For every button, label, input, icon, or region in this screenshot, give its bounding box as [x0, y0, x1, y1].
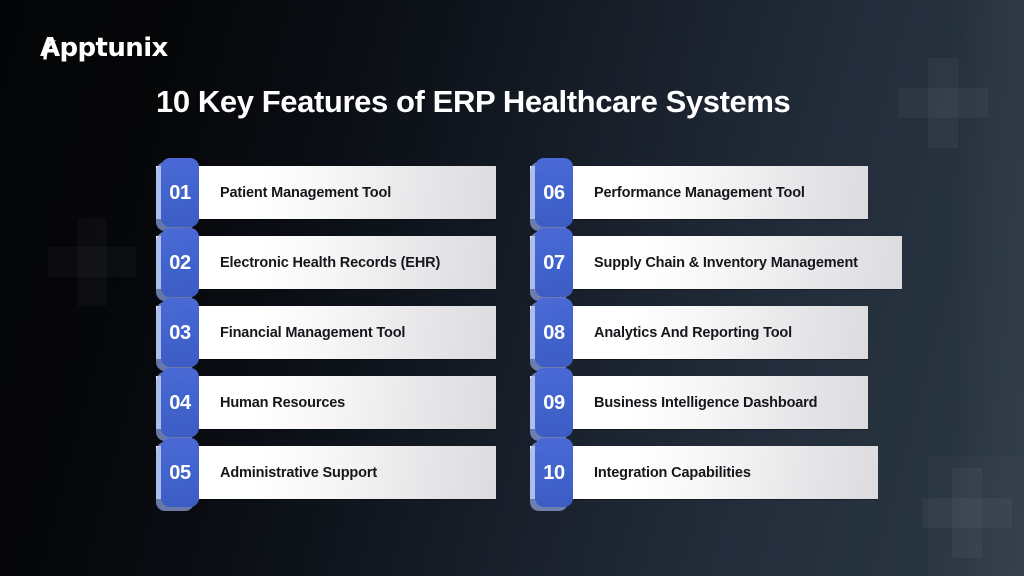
medical-cross-left-icon — [48, 218, 136, 306]
feature-number-badge: 09 — [535, 368, 573, 437]
feature-number: 05 — [169, 463, 190, 483]
feature-label: Financial Management Tool — [220, 306, 405, 359]
feature-label: Analytics And Reporting Tool — [594, 306, 792, 359]
infographic-slide: Apptunix 10 Key Features of ERP Healthca… — [0, 0, 1024, 576]
feature-label: Human Resources — [220, 376, 345, 429]
feature-number-badge: 01 — [161, 158, 199, 227]
feature-number-badge: 10 — [535, 438, 573, 507]
feature-label: Business Intelligence Dashboard — [594, 376, 817, 429]
feature-number-badge: 04 — [161, 368, 199, 437]
feature-number-badge: 06 — [535, 158, 573, 227]
bottom-right-block — [928, 456, 1024, 576]
feature-number: 01 — [169, 183, 190, 203]
feature-label: Supply Chain & Inventory Management — [594, 236, 858, 289]
feature-number-badge: 07 — [535, 228, 573, 297]
right-edge-band — [952, 0, 1024, 576]
feature-number-badge: 05 — [161, 438, 199, 507]
feature-number-badge: 03 — [161, 298, 199, 367]
feature-label: Integration Capabilities — [594, 446, 751, 499]
feature-number: 07 — [543, 253, 564, 273]
feature-number: 10 — [543, 463, 564, 483]
feature-number-badge: 02 — [161, 228, 199, 297]
medical-cross-bottom-right-icon — [922, 468, 1012, 558]
feature-label: Administrative Support — [220, 446, 377, 499]
page-title: 10 Key Features of ERP Healthcare System… — [156, 84, 936, 121]
feature-number: 08 — [543, 323, 564, 343]
apptunix-logo: Apptunix — [40, 31, 168, 65]
feature-number: 02 — [169, 253, 190, 273]
feature-label: Patient Management Tool — [220, 166, 391, 219]
feature-number-badge: 08 — [535, 298, 573, 367]
feature-number: 03 — [169, 323, 190, 343]
feature-label: Performance Management Tool — [594, 166, 805, 219]
feature-label: Electronic Health Records (EHR) — [220, 236, 440, 289]
feature-number: 06 — [543, 183, 564, 203]
feature-number: 09 — [543, 393, 564, 413]
feature-number: 04 — [169, 393, 190, 413]
